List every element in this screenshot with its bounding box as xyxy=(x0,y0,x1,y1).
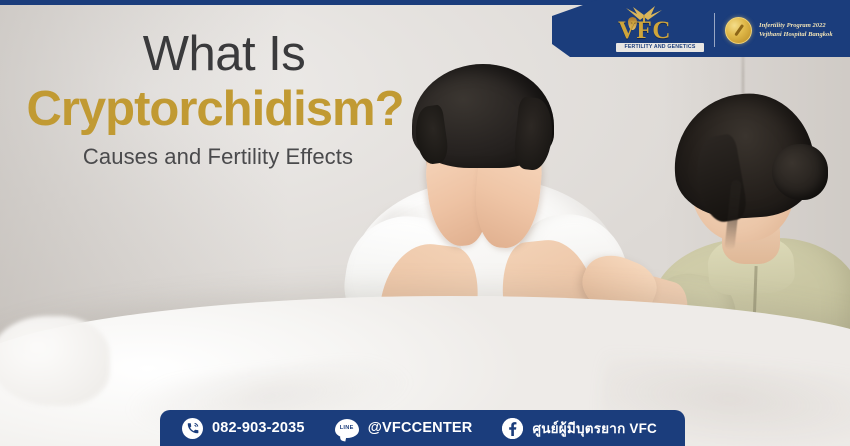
header-logo-cluster: VFC FERTILITY AND GENETICS Infertility P… xyxy=(608,4,850,56)
award-line-1: Infertility Program 2022 xyxy=(759,21,833,30)
contact-line[interactable]: LINE @VFCCENTER xyxy=(335,419,473,438)
pillow-left xyxy=(0,316,110,406)
promotional-banner: VFC FERTILITY AND GENETICS Infertility P… xyxy=(0,0,850,446)
phone-icon xyxy=(182,418,203,439)
headline-subtitle: Causes and Fertility Effects xyxy=(0,142,430,172)
contact-phone[interactable]: 082-903-2035 xyxy=(182,418,305,439)
award-line-2: Vejthani Hospital Bangkok xyxy=(759,30,833,39)
line-icon: LINE xyxy=(335,419,359,438)
headline-line-2: Cryptorchidism? xyxy=(0,78,430,140)
medal-icon xyxy=(725,17,752,44)
vfc-tagline: FERTILITY AND GENETICS xyxy=(616,43,704,52)
facebook-icon xyxy=(502,418,523,439)
headline-line-1: What Is xyxy=(0,24,430,84)
woman-hair-bun xyxy=(772,144,828,200)
headline-block: What Is Cryptorchidism? Causes and Ferti… xyxy=(0,24,430,172)
facebook-page-name: ศูนย์ผู้มีบุตรยาก VFC xyxy=(532,417,657,439)
vfc-logo[interactable]: VFC FERTILITY AND GENETICS xyxy=(608,5,704,55)
vfc-wordmark: VFC xyxy=(618,18,704,44)
phone-number: 082-903-2035 xyxy=(212,420,305,436)
line-icon-label: LINE xyxy=(340,425,354,431)
logo-divider xyxy=(714,13,715,47)
contact-bar: 082-903-2035 LINE @VFCCENTER ศูนย์ผู้มีบ… xyxy=(160,410,685,446)
man-hair xyxy=(412,64,554,168)
contact-facebook[interactable]: ศูนย์ผู้มีบุตรยาก VFC xyxy=(502,417,657,439)
award-badge: Infertility Program 2022 Vejthani Hospit… xyxy=(725,17,833,44)
line-id: @VFCCENTER xyxy=(368,420,473,436)
